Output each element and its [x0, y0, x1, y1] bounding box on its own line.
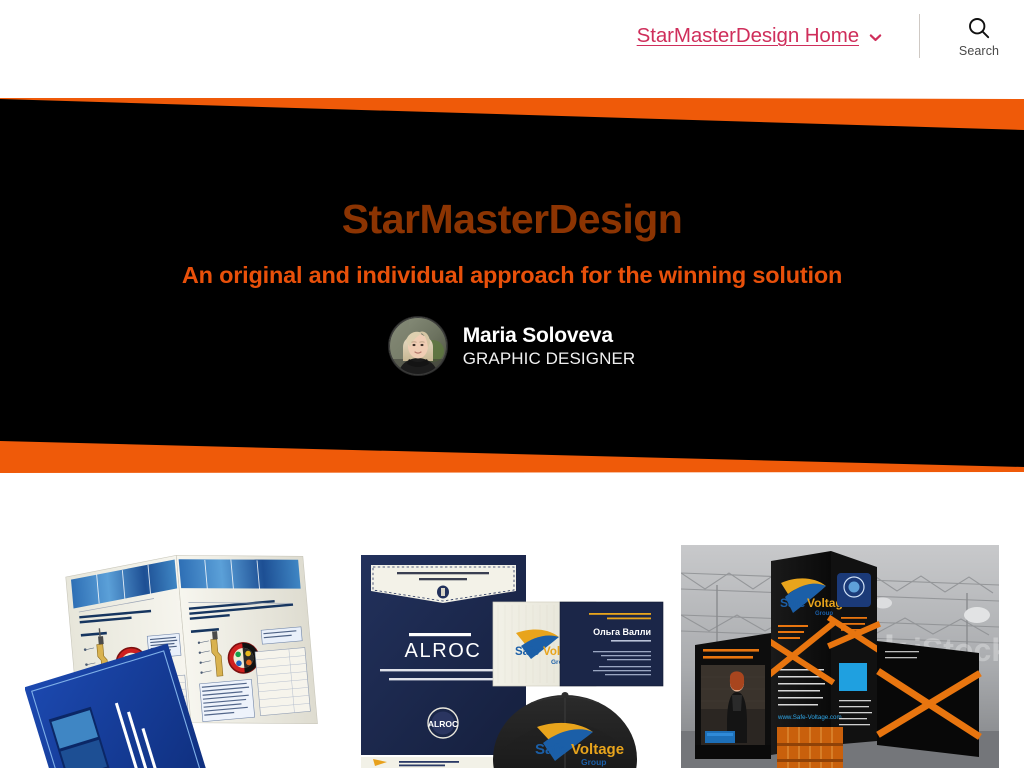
page-title: StarMasterDesign: [342, 196, 683, 243]
gallery-item-alroc-brochure-and-business-cards[interactable]: ALROC ALROC: [353, 545, 671, 768]
svg-text:Ольга Валли: Ольга Валли: [593, 627, 651, 637]
author-text: Maria Soloveva GRAPHIC DESIGNER: [463, 324, 636, 369]
svg-text:Safe: Safe: [535, 741, 567, 758]
search-label[interactable]: Search: [959, 45, 999, 58]
gallery-item-optical-cables-catalog[interactable]: [25, 545, 343, 768]
header-inner: StarMasterDesign Home Search: [637, 0, 1024, 72]
page-root: StarMasterDesign An original and individ…: [0, 0, 1024, 768]
author-name: Maria Soloveva: [463, 324, 613, 349]
nav-link-label[interactable]: StarMasterDesign Home: [637, 24, 859, 48]
svg-text:ALROC: ALROC: [428, 719, 458, 729]
main-navigation: StarMasterDesign Home: [637, 24, 883, 48]
svg-text:Safe: Safe: [780, 596, 806, 610]
svg-text:Safe: Safe: [515, 646, 539, 658]
svg-text:www.Safe-Voltage.com: www.Safe-Voltage.com: [777, 714, 842, 721]
svg-text:ALROC: ALROC: [405, 640, 482, 662]
portfolio-gallery: ALROC ALROC: [0, 500, 1024, 768]
svg-text:Voltage: Voltage: [571, 741, 624, 758]
site-header: StarMasterDesign Home Search: [0, 0, 1024, 98]
search-button[interactable]: Search: [950, 12, 1008, 60]
svg-text:Group: Group: [581, 757, 607, 767]
header-divider: [919, 14, 920, 58]
search-icon[interactable]: [965, 14, 993, 42]
author-block: Maria Soloveva GRAPHIC DESIGNER: [389, 317, 636, 375]
gallery-item-safe-voltage-exhibition-stand[interactable]: iStock iStock Safe Voltage Group: [681, 545, 999, 768]
avatar: [389, 317, 447, 375]
nav-item-home[interactable]: StarMasterDesign Home: [637, 24, 883, 48]
author-role: GRAPHIC DESIGNER: [463, 349, 636, 369]
hero-tagline: An original and individual approach for …: [182, 261, 842, 289]
chevron-down-icon[interactable]: [868, 30, 883, 45]
